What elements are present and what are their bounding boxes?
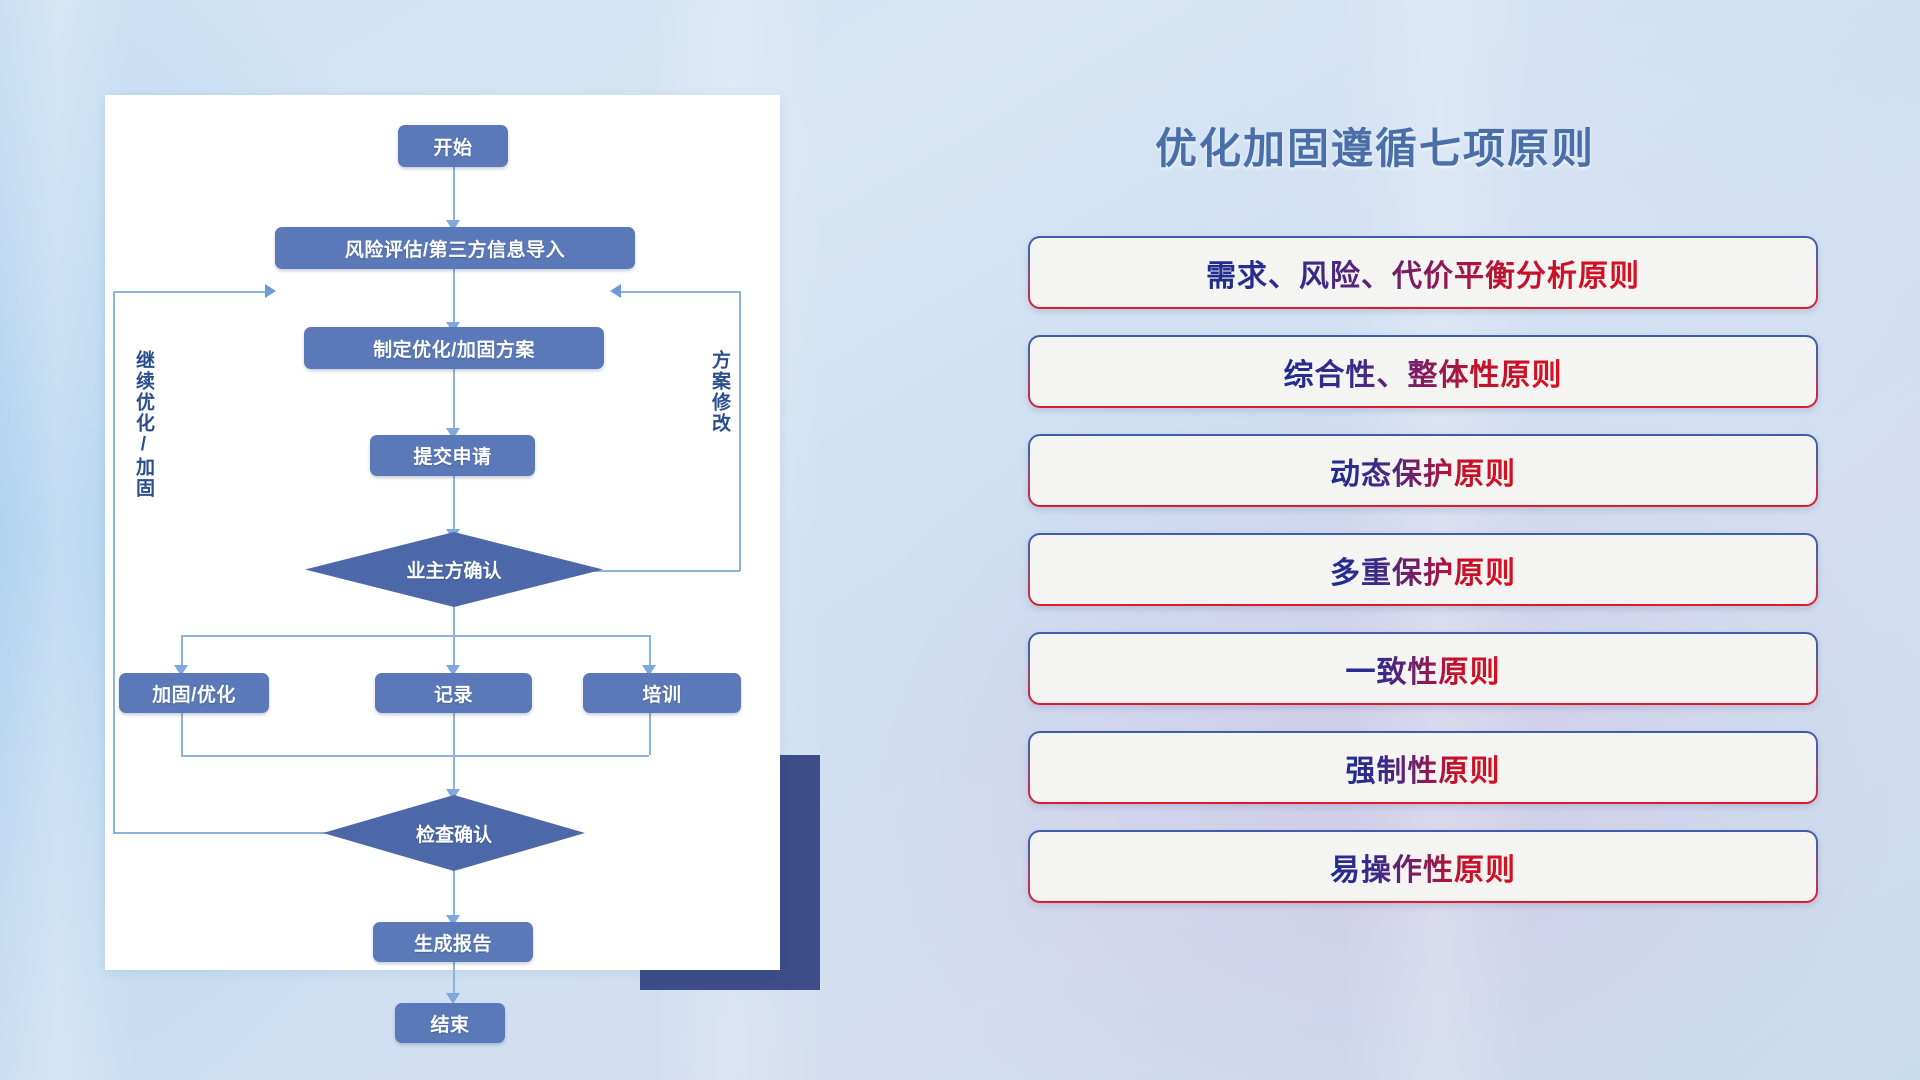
flow-node-submit-label: 提交申请 [413, 442, 491, 469]
principle-item-2[interactable]: 综合性、整体性原则 [1028, 335, 1818, 408]
principle-item-1[interactable]: 需求、风险、代价平衡分析原则 [1028, 236, 1818, 309]
principle-item-2-label: 综合性、整体性原则 [1284, 350, 1563, 394]
flowchart-card: 开始 风险评估/第三方信息导入 制定优化/加固方案 提交申请 业主方确认 加固/… [105, 95, 780, 970]
flow-node-risk-assessment-label: 风险评估/第三方信息导入 [345, 235, 565, 262]
edge-label-continue-optimize: 继续优化/加固 [133, 350, 153, 499]
flow-node-risk-assessment[interactable]: 风险评估/第三方信息导入 [275, 227, 635, 269]
connector-training-down [649, 707, 651, 755]
principle-item-3-inner: 动态保护原则 [1030, 436, 1816, 505]
flow-node-reinforce-label: 加固/优化 [152, 680, 236, 707]
flow-node-start[interactable]: 开始 [398, 125, 508, 167]
principle-item-6-label: 强制性原则 [1346, 746, 1501, 790]
principle-item-6-inner: 强制性原则 [1030, 733, 1816, 802]
flow-node-start-label: 开始 [433, 133, 472, 160]
loop-left-riser [113, 291, 115, 833]
principle-item-5-inner: 一致性原则 [1030, 634, 1816, 703]
principle-item-6[interactable]: 强制性原则 [1028, 731, 1818, 804]
flow-node-record[interactable]: 记录 [375, 673, 532, 713]
flow-node-end-label: 结束 [430, 1010, 469, 1037]
connector-submit-to-owner [453, 475, 455, 537]
connector-merge-bus-bottom [181, 755, 649, 757]
connector-owner-to-record [453, 605, 455, 673]
loop-right-riser [739, 291, 741, 571]
page-title: 优化加固遵循七项原则 [1155, 115, 1595, 176]
principle-item-3[interactable]: 动态保护原则 [1028, 434, 1818, 507]
principle-item-1-label: 需求、风险、代价平衡分析原则 [1206, 251, 1640, 295]
connector-risk-to-plan [453, 267, 455, 329]
arrowhead-loop-right-to-plan [610, 284, 621, 298]
principle-item-4-inner: 多重保护原则 [1030, 535, 1816, 604]
loop-left-from-check [113, 832, 335, 834]
loop-right-to-plan [617, 291, 740, 293]
principles-list: 需求、风险、代价平衡分析原则 综合性、整体性原则 动态保护原则 多重保护原则 一… [1028, 236, 1818, 929]
principle-item-7[interactable]: 易操作性原则 [1028, 830, 1818, 903]
flow-node-report[interactable]: 生成报告 [373, 922, 533, 962]
principle-item-4-label: 多重保护原则 [1330, 548, 1516, 592]
flow-node-training[interactable]: 培训 [583, 673, 741, 713]
principle-item-7-label: 易操作性原则 [1330, 845, 1516, 889]
connector-plan-to-submit [453, 368, 455, 436]
principle-item-3-label: 动态保护原则 [1330, 449, 1516, 493]
flow-node-training-label: 培训 [642, 680, 681, 707]
flow-node-check-confirm-label: 检查确认 [416, 820, 492, 847]
arrowhead-loop-left-to-plan [265, 284, 276, 298]
principle-item-1-inner: 需求、风险、代价平衡分析原则 [1030, 238, 1816, 307]
flow-node-end[interactable]: 结束 [395, 1003, 505, 1043]
connector-record-to-check [453, 707, 455, 797]
flow-node-plan-label: 制定优化/加固方案 [373, 335, 535, 362]
principle-item-2-inner: 综合性、整体性原则 [1030, 337, 1816, 406]
loop-left-to-plan [113, 291, 271, 293]
connector-reinforce-down [181, 707, 183, 755]
flowchart-canvas: 开始 风险评估/第三方信息导入 制定优化/加固方案 提交申请 业主方确认 加固/… [105, 95, 780, 970]
flow-node-submit[interactable]: 提交申请 [370, 435, 535, 476]
flow-node-record-label: 记录 [434, 680, 473, 707]
connector-start-to-risk [453, 165, 455, 227]
principle-item-7-inner: 易操作性原则 [1030, 832, 1816, 901]
flow-node-owner-confirm[interactable]: 业主方确认 [305, 532, 603, 607]
principle-item-5-label: 一致性原则 [1346, 647, 1501, 691]
flow-node-owner-confirm-label: 业主方确认 [406, 556, 501, 583]
flow-node-plan[interactable]: 制定优化/加固方案 [304, 327, 604, 369]
principle-item-4[interactable]: 多重保护原则 [1028, 533, 1818, 606]
flow-node-check-confirm[interactable]: 检查确认 [323, 795, 585, 871]
flow-node-report-label: 生成报告 [414, 929, 492, 956]
edge-label-plan-revision: 方案修改 [709, 350, 729, 434]
flow-node-reinforce[interactable]: 加固/优化 [119, 673, 269, 713]
connector-branch-bus-top [181, 635, 649, 637]
principle-item-5[interactable]: 一致性原则 [1028, 632, 1818, 705]
